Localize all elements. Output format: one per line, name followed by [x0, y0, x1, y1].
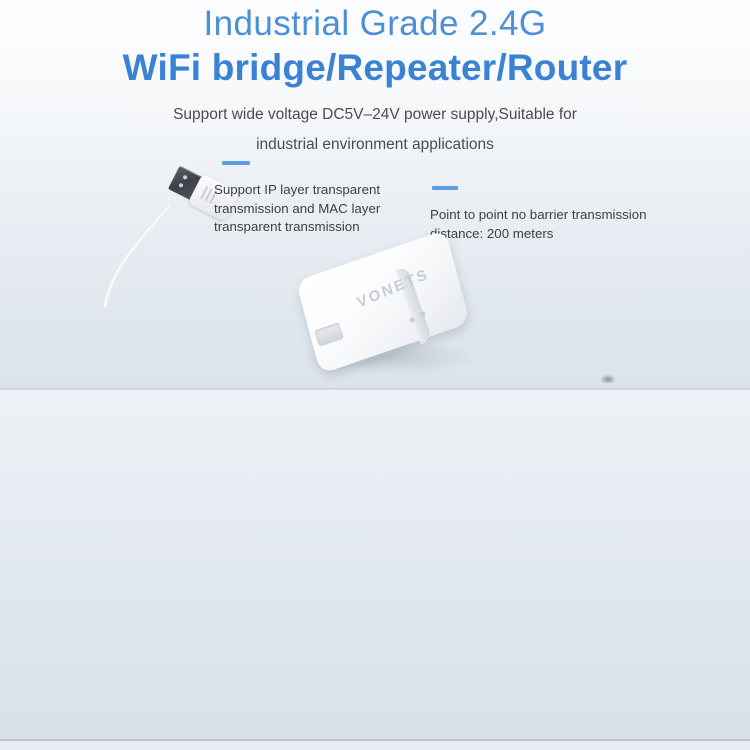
hero-title-line-2: WiFi bridge/Repeater/Router — [0, 45, 750, 91]
background-artifact — [600, 374, 616, 383]
hero-subtitle: Support wide voltage DC5V–24V power supp… — [0, 100, 750, 160]
device-led-1 — [409, 317, 415, 323]
device-brand-logo: VONETS — [355, 265, 431, 311]
callout-right-dash-marker — [432, 186, 458, 190]
hero-title-line-1: Industrial Grade 2.4G — [0, 2, 750, 46]
feature-callout-right: Point to point no barrier transmission d… — [430, 206, 690, 243]
product-marketing-image: Industrial Grade 2.4G WiFi bridge/Repeat… — [0, 0, 750, 750]
router-device-illustration: VONETS — [296, 248, 486, 388]
device-led-2 — [420, 311, 426, 317]
callout-left-dash-marker — [222, 161, 250, 165]
hero-subtitle-line-1: Support wide voltage DC5V–24V power supp… — [0, 100, 750, 130]
hero-subtitle-line-2: industrial environment applications — [0, 130, 750, 160]
hero-section: Industrial Grade 2.4G WiFi bridge/Repeat… — [0, 0, 750, 389]
feature-callout-left: Support IP layer transparent transmissio… — [214, 181, 429, 237]
footer-strip — [0, 741, 750, 750]
accessories-section: Standard accessories — [0, 390, 750, 740]
